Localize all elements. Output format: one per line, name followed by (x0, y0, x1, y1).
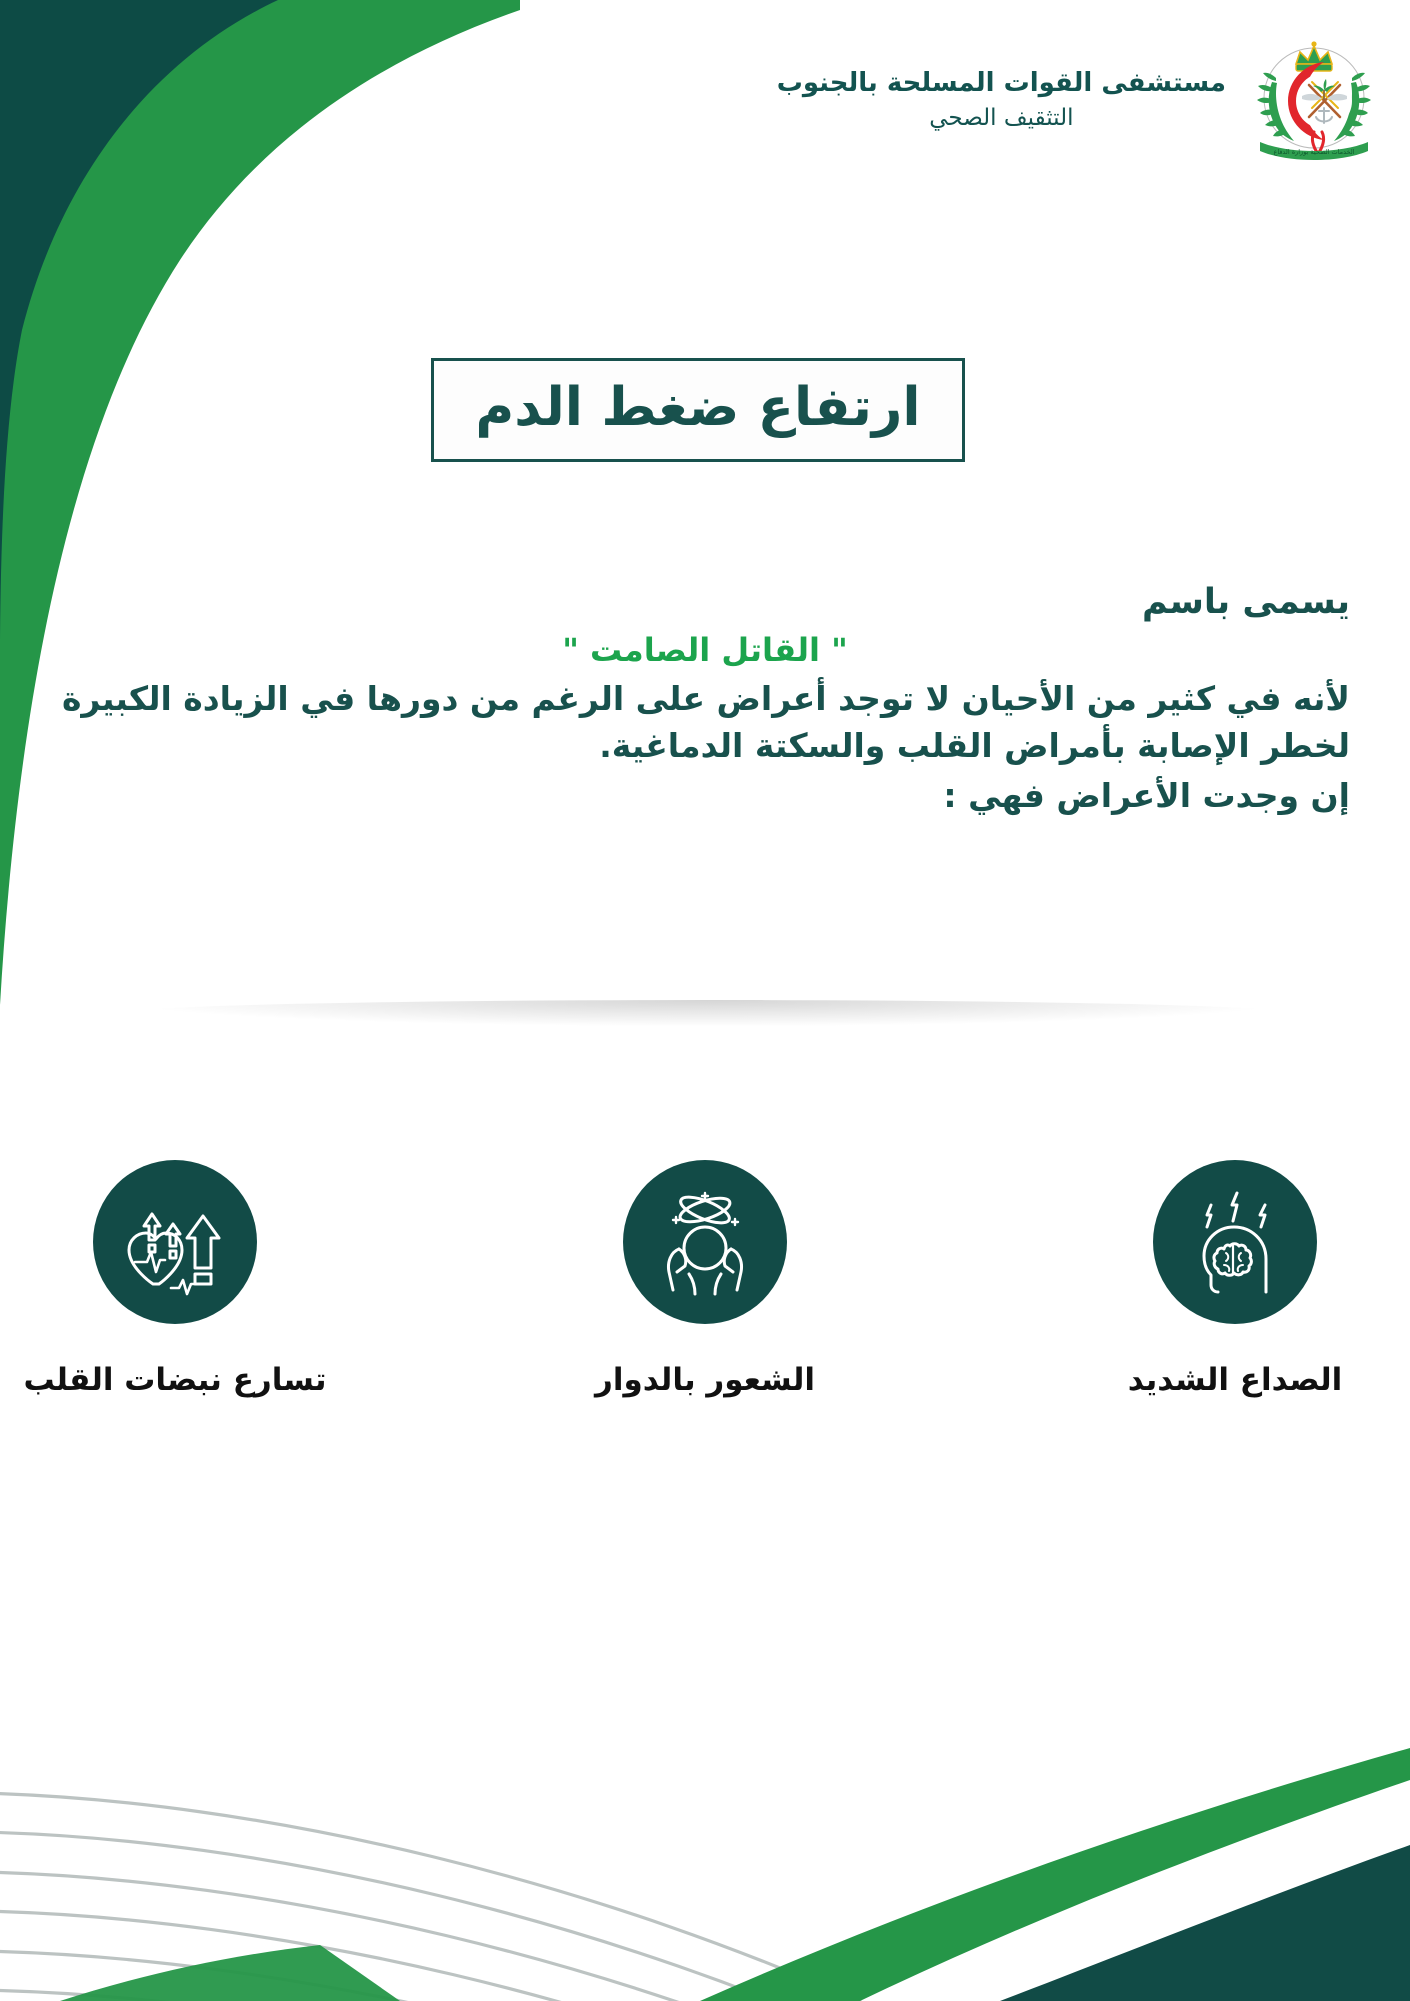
header-text-block: مستشفى القوات المسلحة بالجنوب التثقيف ال… (777, 65, 1226, 135)
intro-paragraph: لأنه في كثير من الأحيان لا توجد أعراض عل… (60, 676, 1350, 770)
bottom-left-green-wedge (60, 1945, 400, 2001)
hospital-name: مستشفى القوات المسلحة بالجنوب (777, 65, 1226, 102)
symptom-label: الصداع الشديد (1128, 1362, 1343, 1398)
symptom-icon-circle (623, 1160, 787, 1324)
poster-header: الخدمات الصحية بوزارة الدفاع مستشفى القو… (777, 38, 1376, 162)
symptom-item: الصداع الشديد (1085, 1160, 1385, 1398)
bottom-left-gray-arcs (0, 1793, 955, 2001)
intro-nickname: " القاتل الصامت " (60, 626, 1350, 676)
bottom-right-dark-swoosh (1000, 1845, 1410, 2001)
symptom-icon-circle (93, 1160, 257, 1324)
poster-canvas: الخدمات الصحية بوزارة الدفاع مستشفى القو… (0, 0, 1410, 2001)
symptom-item: الشعور بالدوار (555, 1160, 855, 1398)
page-title-box: ارتفاع ضغط الدم (431, 358, 965, 462)
intro-lead: يسمى باسم (60, 578, 1350, 626)
symptom-item: تسارع نبضات القلب (25, 1160, 325, 1398)
intro-question: إن وجدت الأعراض فهي : (60, 770, 1350, 821)
symptom-label: الشعور بالدوار (595, 1362, 815, 1398)
section-divider (128, 1000, 1288, 1026)
intro-section: يسمى باسم " القاتل الصامت " لأنه في كثير… (60, 578, 1350, 821)
head-brain-lightning-icon (1180, 1187, 1290, 1297)
dizzy-person-holding-head-icon (649, 1186, 761, 1298)
symptom-icon-circle (1153, 1160, 1317, 1324)
logo-banner-text: الخدمات الصحية بوزارة الدفاع (1273, 148, 1354, 156)
department-name: التثقيف الصحي (777, 102, 1226, 135)
symptom-label: تسارع نبضات القلب (23, 1362, 326, 1398)
page-title: ارتفاع ضغط الدم (475, 381, 920, 440)
symptoms-row: الصداع الشديد (0, 1160, 1410, 1398)
saudi-armed-forces-medical-services-logo-icon: الخدمات الصحية بوزارة الدفاع (1252, 38, 1376, 162)
heart-ecg-up-arrows-icon (119, 1186, 231, 1298)
top-left-green-swoosh (0, 0, 520, 1005)
hospital-logo: الخدمات الصحية بوزارة الدفاع (1252, 38, 1376, 162)
bottom-right-green-band (700, 1748, 1410, 2001)
